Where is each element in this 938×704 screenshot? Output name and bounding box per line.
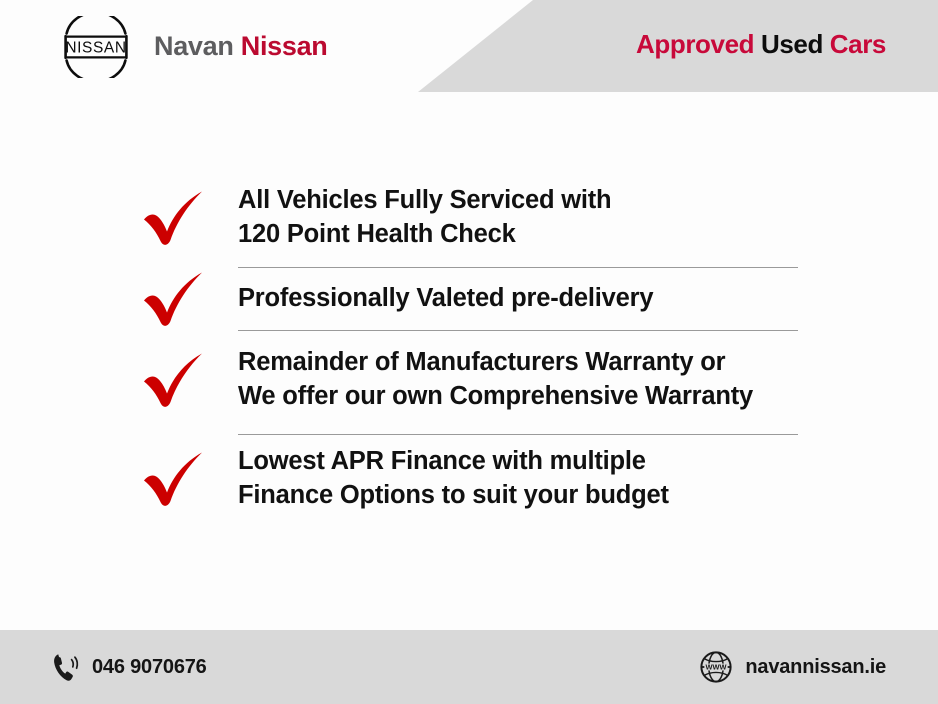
- website-url: navannissan.ie: [745, 656, 886, 679]
- feature-text: Professionally Valeted pre-delivery: [238, 282, 653, 316]
- red-checkmark-icon: [140, 348, 214, 412]
- nissan-logo-icon: NISSAN: [52, 16, 140, 78]
- page-header: NISSAN Navan Nissan Approved Used Cars: [0, 0, 938, 92]
- banner-word-used: Used: [761, 29, 823, 59]
- phone-ringing-icon: [52, 652, 80, 682]
- approved-used-cars-title: Approved Used Cars: [636, 31, 886, 57]
- red-checkmark-icon: [140, 447, 214, 511]
- feature-row: All Vehicles Fully Serviced with 120 Poi…: [0, 168, 938, 267]
- check-cell: [140, 348, 238, 412]
- feature-row: Professionally Valeted pre-delivery: [0, 267, 938, 330]
- red-checkmark-icon: [140, 267, 214, 331]
- page-footer: 046 9070676 WWW navannissan.ie: [0, 630, 938, 704]
- feature-text: All Vehicles Fully Serviced with 120 Poi…: [238, 184, 611, 251]
- feature-list: All Vehicles Fully Serviced with 120 Poi…: [0, 168, 938, 528]
- feature-row: Lowest APR Finance with multiple Finance…: [0, 429, 938, 528]
- phone-contact[interactable]: 046 9070676: [52, 652, 207, 682]
- feature-row: Remainder of Manufacturers Warranty or W…: [0, 330, 938, 429]
- red-checkmark-icon: [140, 186, 214, 250]
- dealer-name-nissan: Nissan: [241, 31, 328, 61]
- phone-number: 046 9070676: [92, 656, 207, 679]
- globe-www-icon: WWW: [699, 650, 733, 684]
- brand-group[interactable]: NISSAN Navan Nissan: [52, 16, 328, 78]
- website-contact[interactable]: WWW navannissan.ie: [699, 650, 886, 684]
- banner-word-cars: Cars: [830, 29, 886, 59]
- dealer-name-navan: Navan: [154, 31, 234, 61]
- svg-text:NISSAN: NISSAN: [65, 39, 126, 56]
- check-cell: [140, 186, 238, 250]
- feature-text: Lowest APR Finance with multiple Finance…: [238, 445, 669, 512]
- banner-word-approved: Approved: [636, 29, 754, 59]
- check-cell: [140, 267, 238, 331]
- feature-text: Remainder of Manufacturers Warranty or W…: [238, 346, 753, 413]
- svg-text:WWW: WWW: [706, 662, 727, 671]
- check-cell: [140, 447, 238, 511]
- dealer-name: Navan Nissan: [154, 33, 328, 62]
